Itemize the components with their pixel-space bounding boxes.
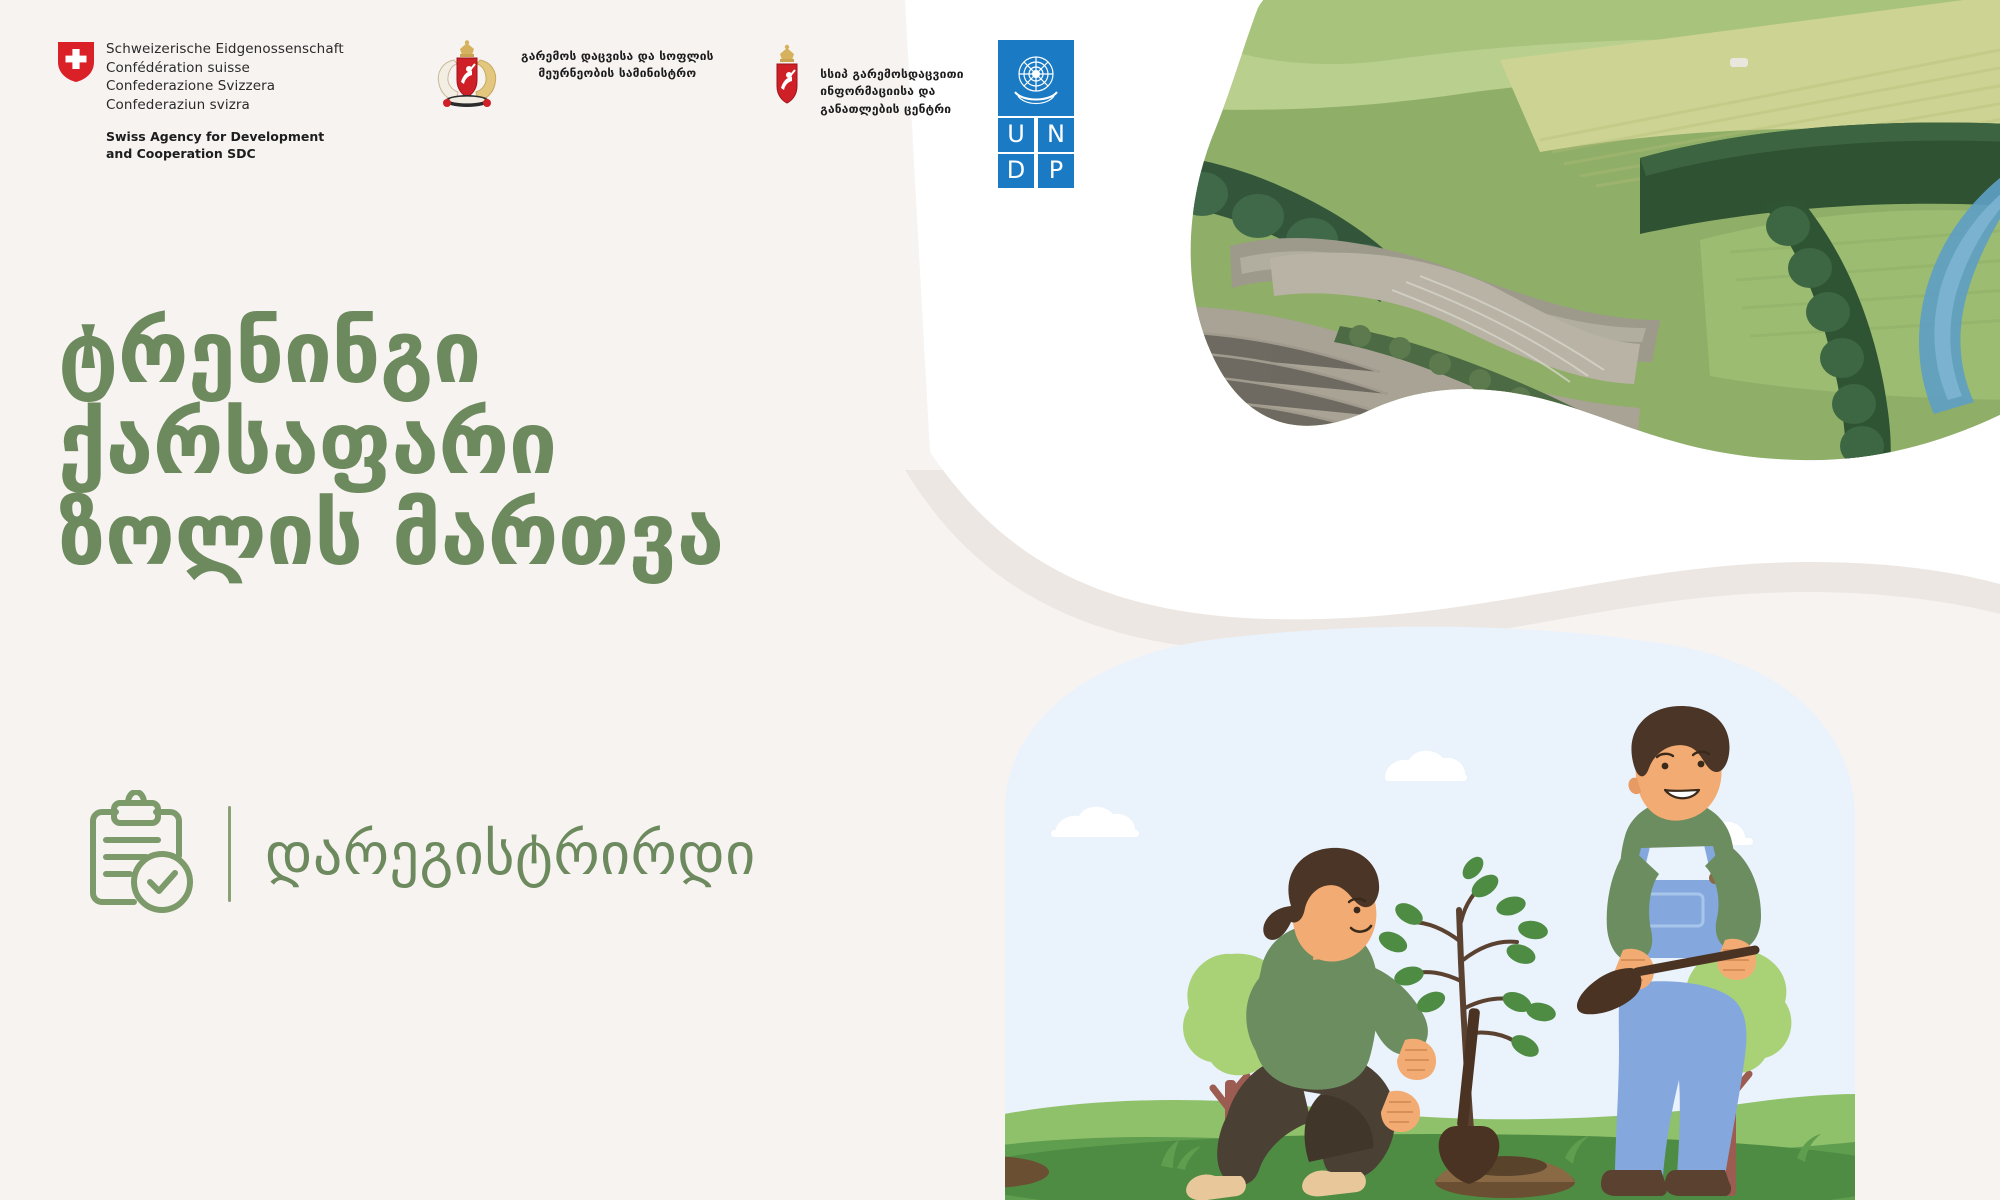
swiss-name-rm: Confederaziun svizra xyxy=(106,96,344,115)
swiss-name-it: Confederazione Svizzera xyxy=(106,77,344,96)
swiss-name-de: Schweizerische Eidgenossenschaft xyxy=(106,40,344,59)
cta-divider xyxy=(228,806,231,902)
svg-text:N: N xyxy=(1047,120,1065,148)
swiss-agency-name: Swiss Agency for Development and Coopera… xyxy=(106,128,344,164)
poster-canvas: Schweizerische Eidgenossenschaft Confédé… xyxy=(0,0,2000,1200)
logo-ministry-of-environment: გარემოს დაცვისა და სოფლის მეურნეობის სამ… xyxy=(414,40,714,112)
swiss-name-fr: Confédération suisse xyxy=(106,59,344,78)
centre-caption: სსიპ გარემოსდაცვითი ინფორმაციისა და განა… xyxy=(820,66,963,118)
aerial-farmland-shelterbelt-photo xyxy=(940,0,2000,610)
svg-text:U: U xyxy=(1007,120,1025,148)
ministry-caption: გარემოს დაცვისა და სოფლის მეურნეობის სამ… xyxy=(521,48,714,83)
swiss-agency-line-2: and Cooperation SDC xyxy=(106,145,344,163)
clipboard-check-icon xyxy=(72,790,200,918)
page-title: ტრენინგი ქარსაფარი ზოლის მართვა xyxy=(58,308,958,581)
logo-swiss-confederation: Schweizerische Eidgenossenschaft Confédé… xyxy=(58,40,344,163)
svg-text:D: D xyxy=(1006,156,1024,184)
georgia-coat-of-arms-icon xyxy=(427,40,507,112)
partner-logo-bar: Schweizerische Eidgenossenschaft Confédé… xyxy=(58,40,1074,190)
svg-text:P: P xyxy=(1048,156,1062,184)
swiss-names: Schweizerische Eidgenossenschaft Confédé… xyxy=(106,40,344,115)
register-cta[interactable]: დარეგისტრირდი xyxy=(72,790,756,918)
tree-planting-illustration xyxy=(965,610,1895,1200)
swiss-cross-shield-icon xyxy=(58,42,94,82)
swiss-agency-line-1: Swiss Agency for Development xyxy=(106,128,344,146)
georgia-small-coat-of-arms-icon xyxy=(765,40,809,112)
undp-un-emblem-icon: U N D P xyxy=(998,40,1074,190)
logo-environmental-information-centre: სსიპ გარემოსდაცვითი ინფორმაციისა და განა… xyxy=(754,40,964,118)
logo-undp: U N D P xyxy=(998,40,1074,190)
register-label[interactable]: დარეგისტრირდი xyxy=(259,820,756,888)
